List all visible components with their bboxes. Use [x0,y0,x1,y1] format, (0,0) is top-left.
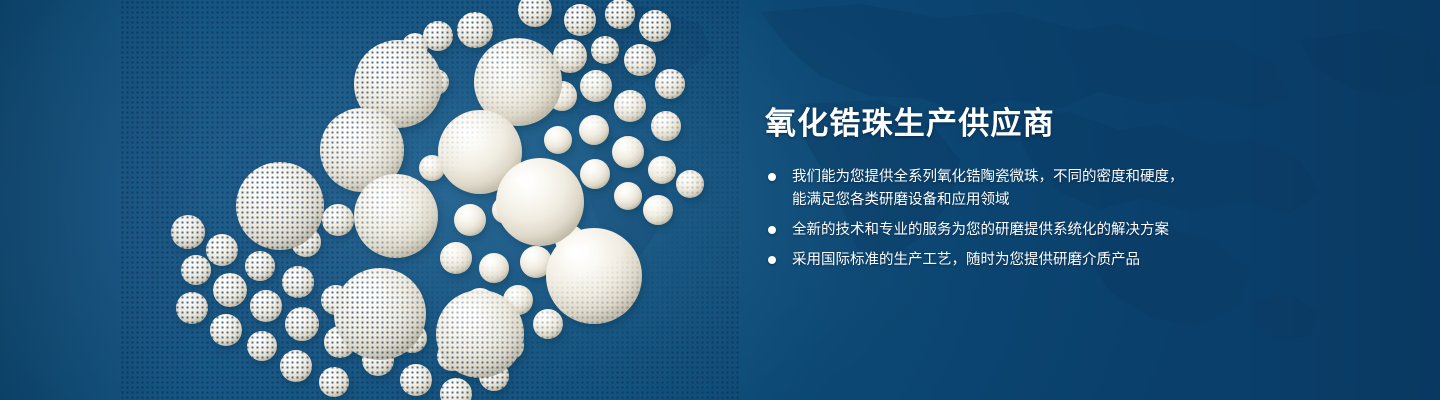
banner-title: 氧化锆珠生产供应商 [765,104,1385,144]
feature-list: 我们能为您提供全系列氧化锆陶瓷微珠，不同的密度和硬度， 能满足您各类研磨设备和应… [765,166,1385,272]
bullet-dot-icon [768,173,776,181]
feature-text: 全新的技术和专业的服务为您的研磨提供系统化的解决方案 [792,219,1385,242]
list-item: 我们能为您提供全系列氧化锆陶瓷微珠，不同的密度和硬度， 能满足您各类研磨设备和应… [765,166,1385,212]
feature-line: 全新的技术和专业的服务为您的研磨提供系统化的解决方案 [792,219,1385,242]
feature-line: 采用国际标准的生产工艺，随时为您提供研磨介质产品 [792,249,1385,272]
hero-banner: 氧化锆珠生产供应商 我们能为您提供全系列氧化锆陶瓷微珠，不同的密度和硬度， 能满… [0,0,1440,400]
feature-text: 我们能为您提供全系列氧化锆陶瓷微珠，不同的密度和硬度， 能满足您各类研磨设备和应… [792,166,1385,212]
feature-text: 采用国际标准的生产工艺，随时为您提供研磨介质产品 [792,249,1385,272]
feature-line: 能满足您各类研磨设备和应用领域 [792,189,1385,212]
list-item: 全新的技术和专业的服务为您的研磨提供系统化的解决方案 [765,219,1385,242]
feature-line: 我们能为您提供全系列氧化锆陶瓷微珠，不同的密度和硬度， [792,166,1385,189]
list-item: 采用国际标准的生产工艺，随时为您提供研磨介质产品 [765,249,1385,272]
banner-content: 氧化锆珠生产供应商 我们能为您提供全系列氧化锆陶瓷微珠，不同的密度和硬度， 能满… [765,104,1385,279]
bullet-dot-icon [768,256,776,264]
bullet-dot-icon [768,226,776,234]
